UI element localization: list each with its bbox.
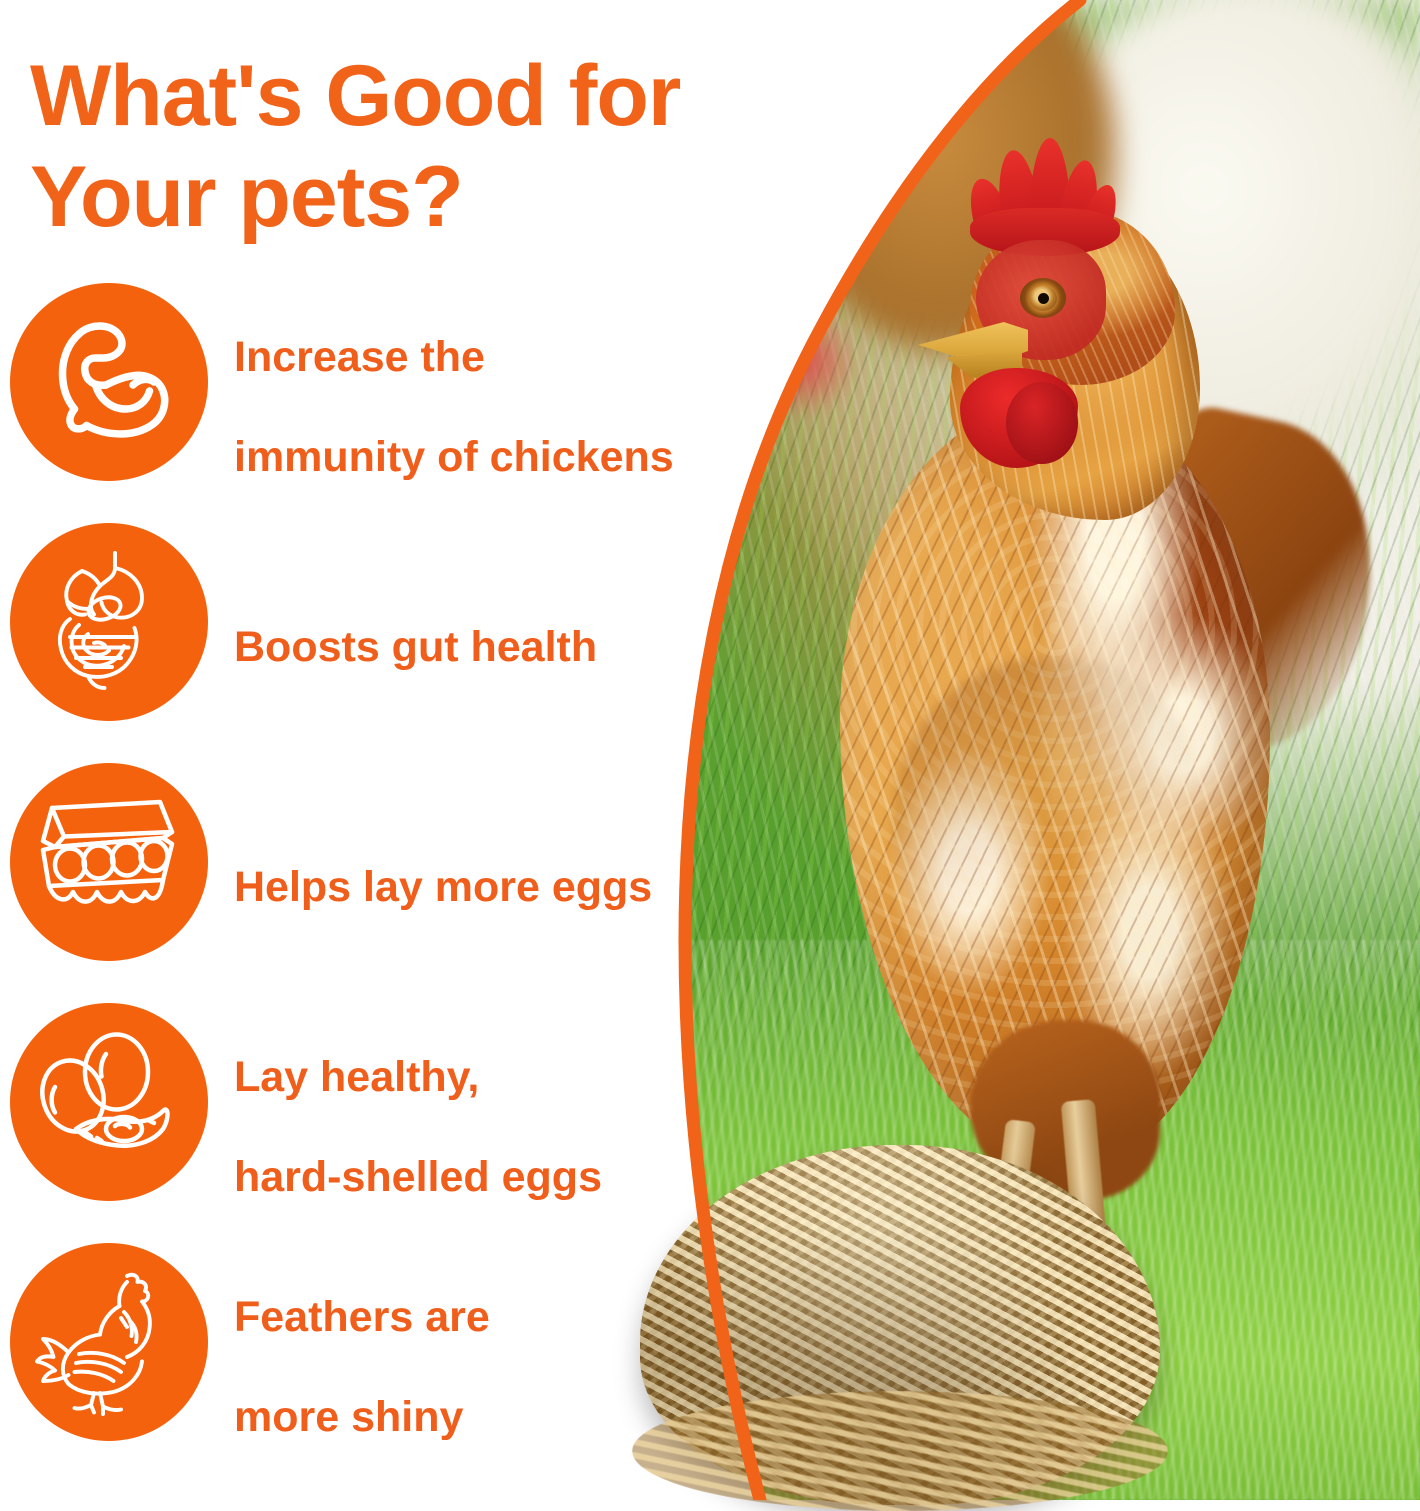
cracked-egg-icon — [10, 1003, 208, 1201]
benefit-label-line-2: more shiny — [234, 1393, 463, 1441]
benefit-label-line-1: Boosts gut health — [234, 623, 597, 671]
list-item: Boosts gut health — [0, 502, 760, 742]
page-title-line-2: Your pets? — [30, 147, 730, 248]
benefit-label-line-2: hard-shelled eggs — [234, 1153, 602, 1201]
egg-carton-icon — [10, 763, 208, 961]
hen-eye-pupil — [1038, 293, 1049, 304]
benefit-label-line-1: Helps lay more eggs — [234, 863, 652, 911]
list-item-label: Boosts gut health — [234, 572, 597, 673]
list-item: Helps lay more eggs — [0, 742, 760, 982]
list-item: Feathers are more shiny — [0, 1222, 760, 1462]
page-title: What's Good for Your pets? — [30, 46, 730, 249]
list-item: Increase the immunity of chickens — [0, 262, 760, 502]
benefit-label-line-1: Increase the — [234, 333, 485, 381]
list-item-label: Feathers are more shiny — [234, 1241, 490, 1442]
benefit-list: Increase the immunity of chickens — [0, 262, 760, 1462]
flexed-bicep-icon — [10, 283, 208, 481]
list-item-label: Increase the immunity of chickens — [234, 281, 674, 482]
list-item: Lay healthy, hard-shelled eggs — [0, 982, 760, 1222]
list-item-label: Helps lay more eggs — [234, 812, 652, 913]
digestive-system-icon — [10, 523, 208, 721]
hen-breast-highlight — [1038, 522, 1210, 902]
hen-icon — [10, 1243, 208, 1441]
benefits-column: What's Good for Your pets? Increase the … — [0, 0, 760, 1500]
benefit-label-line-1: Feathers are — [234, 1293, 490, 1341]
list-item-label: Lay healthy, hard-shelled eggs — [234, 1001, 602, 1202]
benefit-label-line-1: Lay healthy, — [234, 1053, 479, 1101]
benefit-label-line-2: immunity of chickens — [234, 433, 674, 481]
hen-wattle-inner — [1006, 382, 1078, 464]
page-title-line-1: What's Good for — [30, 46, 730, 147]
